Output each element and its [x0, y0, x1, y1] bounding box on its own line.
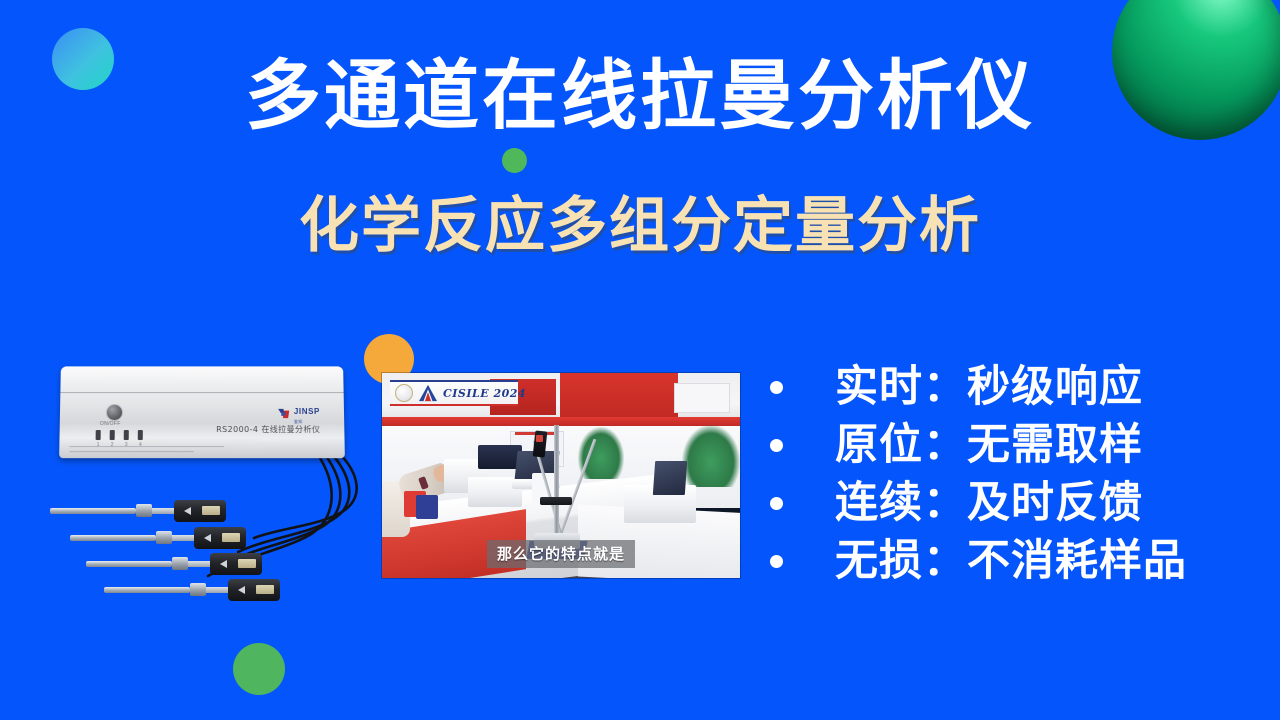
bullet-icon: [770, 555, 783, 568]
probe-indicator: [536, 435, 543, 442]
led-icon: [124, 430, 129, 440]
led-icon: [138, 430, 143, 440]
probe-head: [210, 553, 262, 575]
video-subtitle: 那么它的特点就是: [487, 540, 635, 568]
probe-label-plate: [222, 533, 240, 542]
booth-poster: [674, 383, 730, 413]
bullet-icon: [770, 381, 783, 394]
probe-head: [194, 527, 246, 549]
decorative-green-circle: [233, 643, 285, 695]
analyzer-panel-seam: [60, 392, 343, 393]
exhibition-video-still: CISILE 2024 那么它的特点就是: [382, 373, 740, 578]
probe-marker-icon: [184, 507, 191, 515]
probe-tip: [70, 535, 156, 541]
bullet-icon: [770, 497, 783, 510]
brand-text-block: JINSP 鉴知: [294, 401, 320, 425]
channel-indicator-leds: [96, 430, 143, 440]
probe-marker-icon: [238, 586, 245, 594]
jinsp-brand-logo: JINSP 鉴知: [277, 401, 320, 425]
jinsp-logo-mark-icon: [277, 407, 291, 420]
analyzer-top-face: [60, 366, 343, 392]
decorative-green-dot-small: [502, 148, 527, 173]
probe-label-plate: [256, 585, 274, 594]
blue-box: [416, 495, 438, 519]
probe-stem: [152, 508, 176, 514]
probe-collar: [172, 557, 188, 570]
probe-collar: [190, 583, 206, 596]
channel-number: 1: [95, 442, 100, 448]
channel-number: 4: [138, 442, 143, 448]
feature-list: 实时：秒级响应 原位：无需取样 连续：及时反馈 无损：不消耗样品: [770, 358, 1270, 590]
feature-item: 实时：秒级响应: [770, 358, 1270, 416]
cisile-logo-icon: [417, 384, 439, 402]
analyzer-chassis: ON/OFF 1 2 3 4 JINSP: [59, 366, 345, 458]
probe-tip: [86, 561, 172, 567]
brand-name: JINSP: [294, 407, 320, 416]
potted-plant: [682, 425, 740, 487]
probe-collar: [156, 531, 172, 544]
instrument-product-image: ON/OFF 1 2 3 4 JINSP: [42, 366, 372, 626]
bullet-icon: [770, 439, 783, 452]
probe-marker-icon: [220, 560, 227, 568]
probe-marker-icon: [204, 534, 211, 542]
stand-pole: [554, 425, 559, 537]
banner-title: CISILE 2024: [443, 387, 526, 400]
probe-stem: [188, 561, 212, 567]
led-icon: [96, 430, 101, 440]
power-button-label: ON/OFF: [100, 421, 121, 427]
probe-head: [174, 500, 226, 522]
channel-number: 3: [124, 442, 129, 448]
probe-stem: [172, 535, 196, 541]
led-icon: [110, 430, 115, 440]
probe-head: [228, 579, 280, 601]
model-label: RS2000-4 在线拉曼分析仪: [216, 424, 320, 435]
feature-label: 原位：无需取样: [835, 424, 1143, 467]
feature-label: 无损：不消耗样品: [835, 540, 1187, 583]
feature-item: 无损：不消耗样品: [770, 532, 1270, 590]
booth-scene: CISILE 2024 那么它的特点就是: [382, 373, 740, 578]
channel-number: 2: [110, 442, 115, 448]
feature-label: 实时：秒级响应: [835, 366, 1143, 409]
presentation-slide: 多通道在线拉曼分析仪 化学反应多组分定量分析 实时：秒级响应 原位：无需取样 连…: [0, 0, 1280, 720]
tablet-screen: [653, 461, 687, 495]
probe-collar: [136, 504, 152, 517]
probe-stem: [206, 587, 230, 593]
probe-tip: [104, 587, 190, 593]
power-button-icon[interactable]: [106, 404, 123, 421]
booth-red-panel: [560, 373, 678, 419]
probe-label-plate: [238, 559, 256, 568]
channel-numbers: 1 2 3 4: [95, 442, 142, 448]
feature-label: 连续：及时反馈: [835, 482, 1143, 525]
slide-subtitle: 化学反应多组分定量分析: [0, 196, 1280, 256]
probe-tip: [50, 508, 136, 514]
feature-item: 连续：及时反馈: [770, 474, 1270, 532]
vent-line: [69, 451, 194, 452]
cisile-banner: CISILE 2024: [390, 380, 518, 406]
banner-seal-icon: [395, 384, 413, 402]
probe-label-plate: [202, 506, 220, 515]
vent-line: [69, 446, 224, 447]
stand-clamp: [540, 497, 572, 505]
slide-title: 多通道在线拉曼分析仪: [0, 58, 1280, 134]
feature-item: 原位：无需取样: [770, 416, 1270, 474]
